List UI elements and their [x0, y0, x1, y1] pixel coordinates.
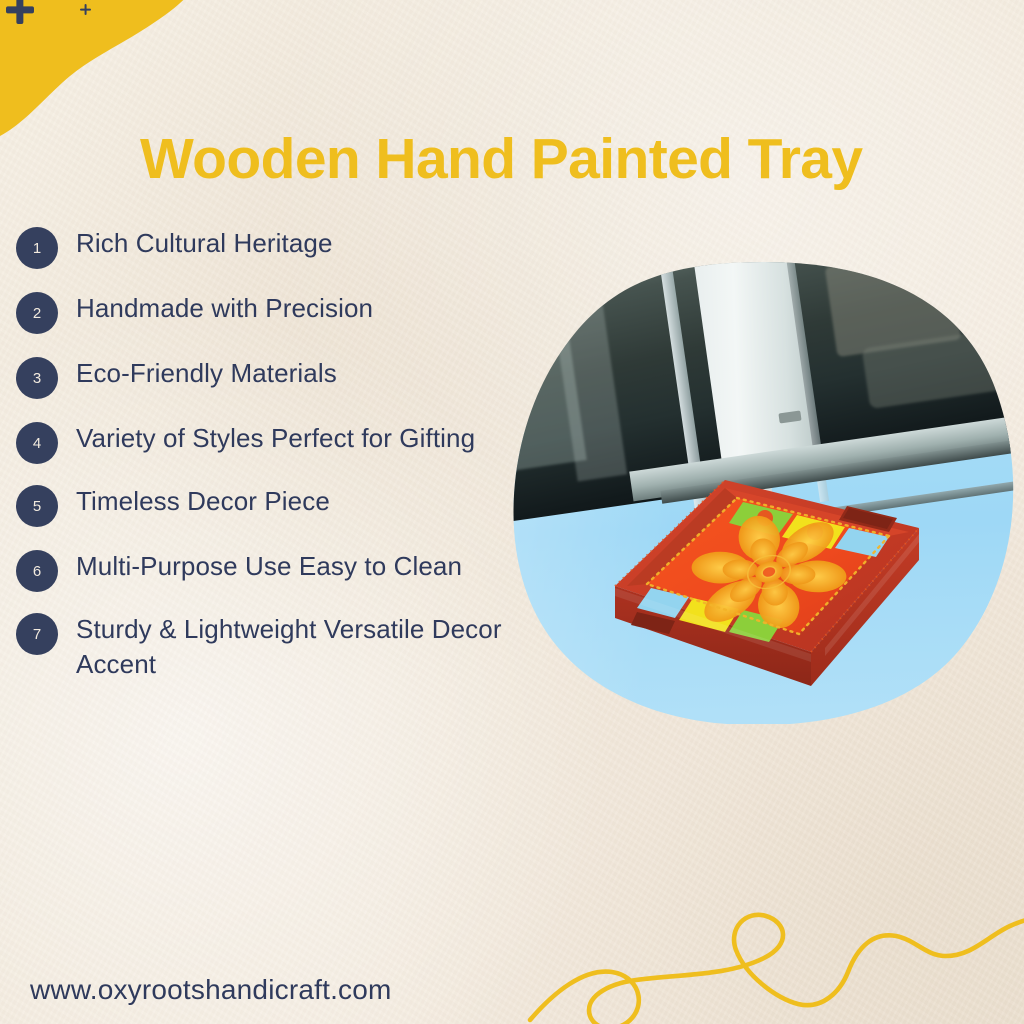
plus-mark-navy-small — [80, 4, 91, 15]
list-item-label: Handmade with Precision — [76, 291, 373, 326]
list-item-number: 7 — [16, 613, 58, 655]
product-photo-blob — [509, 262, 1014, 724]
list-item-number: 2 — [16, 292, 58, 334]
list-item: 6 Multi-Purpose Use Easy to Clean — [16, 549, 576, 592]
page-title: Wooden Hand Painted Tray — [140, 130, 940, 190]
list-item: 2 Handmade with Precision — [16, 291, 576, 334]
list-item-label: Timeless Decor Piece — [76, 484, 330, 519]
list-item-number: 6 — [16, 550, 58, 592]
decorative-squiggle-line — [540, 880, 1024, 1024]
list-item-label: Multi-Purpose Use Easy to Clean — [76, 549, 462, 584]
list-item: 3 Eco-Friendly Materials — [16, 356, 576, 399]
list-item-number: 4 — [16, 422, 58, 464]
list-item-number: 3 — [16, 357, 58, 399]
list-item-label: Eco-Friendly Materials — [76, 356, 337, 391]
poster-canvas: Wooden Hand Painted Tray 1 Rich Cultural… — [0, 0, 1024, 1024]
benefits-list: 1 Rich Cultural Heritage 2 Handmade with… — [16, 226, 576, 701]
plus-mark-navy-medium — [6, 0, 34, 24]
list-item: 4 Variety of Styles Perfect for Gifting — [16, 421, 576, 464]
hand-painted-tray — [597, 436, 947, 704]
list-item-label: Variety of Styles Perfect for Gifting — [76, 421, 475, 456]
list-item-label: Sturdy & Lightweight Versatile Decor Acc… — [76, 612, 528, 681]
website-url: www.oxyrootshandicraft.com — [30, 974, 392, 1006]
list-item: 1 Rich Cultural Heritage — [16, 226, 576, 269]
list-item-number: 5 — [16, 485, 58, 527]
product-photo-scene — [509, 262, 1014, 724]
list-item-label: Rich Cultural Heritage — [76, 226, 333, 261]
list-item: 5 Timeless Decor Piece — [16, 484, 576, 527]
list-item-number: 1 — [16, 227, 58, 269]
list-item: 7 Sturdy & Lightweight Versatile Decor A… — [16, 612, 576, 681]
